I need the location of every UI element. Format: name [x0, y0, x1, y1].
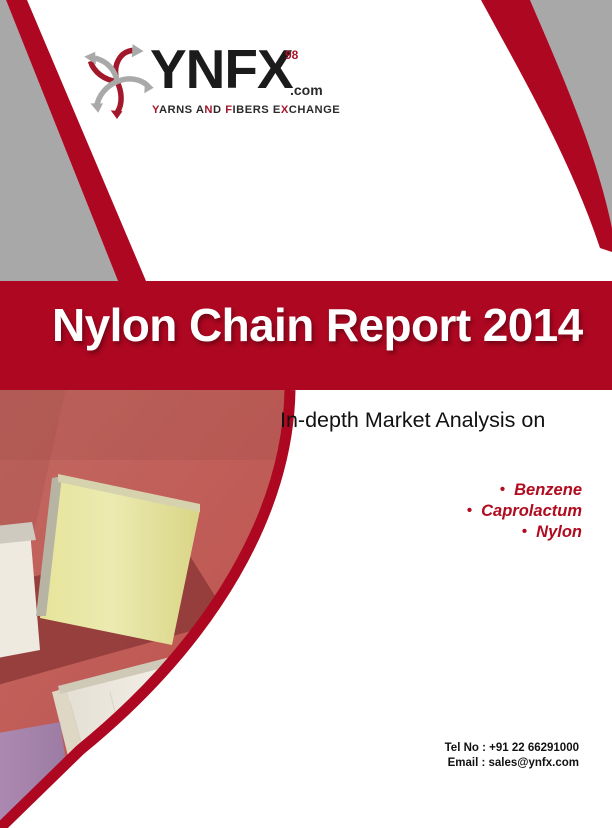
bullet-dot-icon: • [522, 523, 527, 540]
bullet-dot-icon: • [500, 481, 505, 498]
list-item: •Nylon [300, 522, 582, 543]
ynfx-tagline: YARNS AND FIBERS EXCHANGE [152, 104, 340, 116]
ynfx-dotcom: .com [290, 82, 323, 98]
contact-phone: Tel No : +91 22 66291000 [445, 741, 579, 756]
title-banner: Nylon Chain Report 2014 [0, 281, 612, 390]
ynfx-wordmark: YNFX 98 .com YARNS AND FIBERS EXCHANGE [150, 38, 340, 120]
subtitle: In-depth Market Analysis on [280, 408, 545, 433]
top-decorative-band: YNFX 98 .com YARNS AND FIBERS EXCHANGE [0, 0, 612, 281]
trefoil-arrows-icon [78, 40, 156, 120]
bullet-dot-icon: • [467, 502, 472, 519]
hero-photo-frame [0, 390, 360, 828]
report-cover-page: YNFX 98 .com YARNS AND FIBERS EXCHANGE N… [0, 0, 612, 828]
yarn-spools-photo [0, 390, 360, 828]
list-item-label: Benzene [514, 481, 582, 499]
ynfx-superscript-98: 98 [285, 48, 298, 62]
list-item-label: Caprolactum [481, 502, 582, 520]
ynfx-letters: YNFX [150, 39, 293, 99]
ynfx-logo[interactable]: YNFX 98 .com YARNS AND FIBERS EXCHANGE [78, 38, 338, 130]
page-title: Nylon Chain Report 2014 [52, 298, 583, 352]
topics-list: •Benzene •Caprolactum •Nylon [300, 480, 582, 543]
list-item: •Benzene [300, 480, 582, 501]
contact-email[interactable]: Email : sales@ynfx.com [445, 756, 579, 771]
list-item: •Caprolactum [300, 501, 582, 522]
contact-block: Tel No : +91 22 66291000 Email : sales@y… [445, 741, 579, 771]
list-item-label: Nylon [536, 523, 582, 541]
